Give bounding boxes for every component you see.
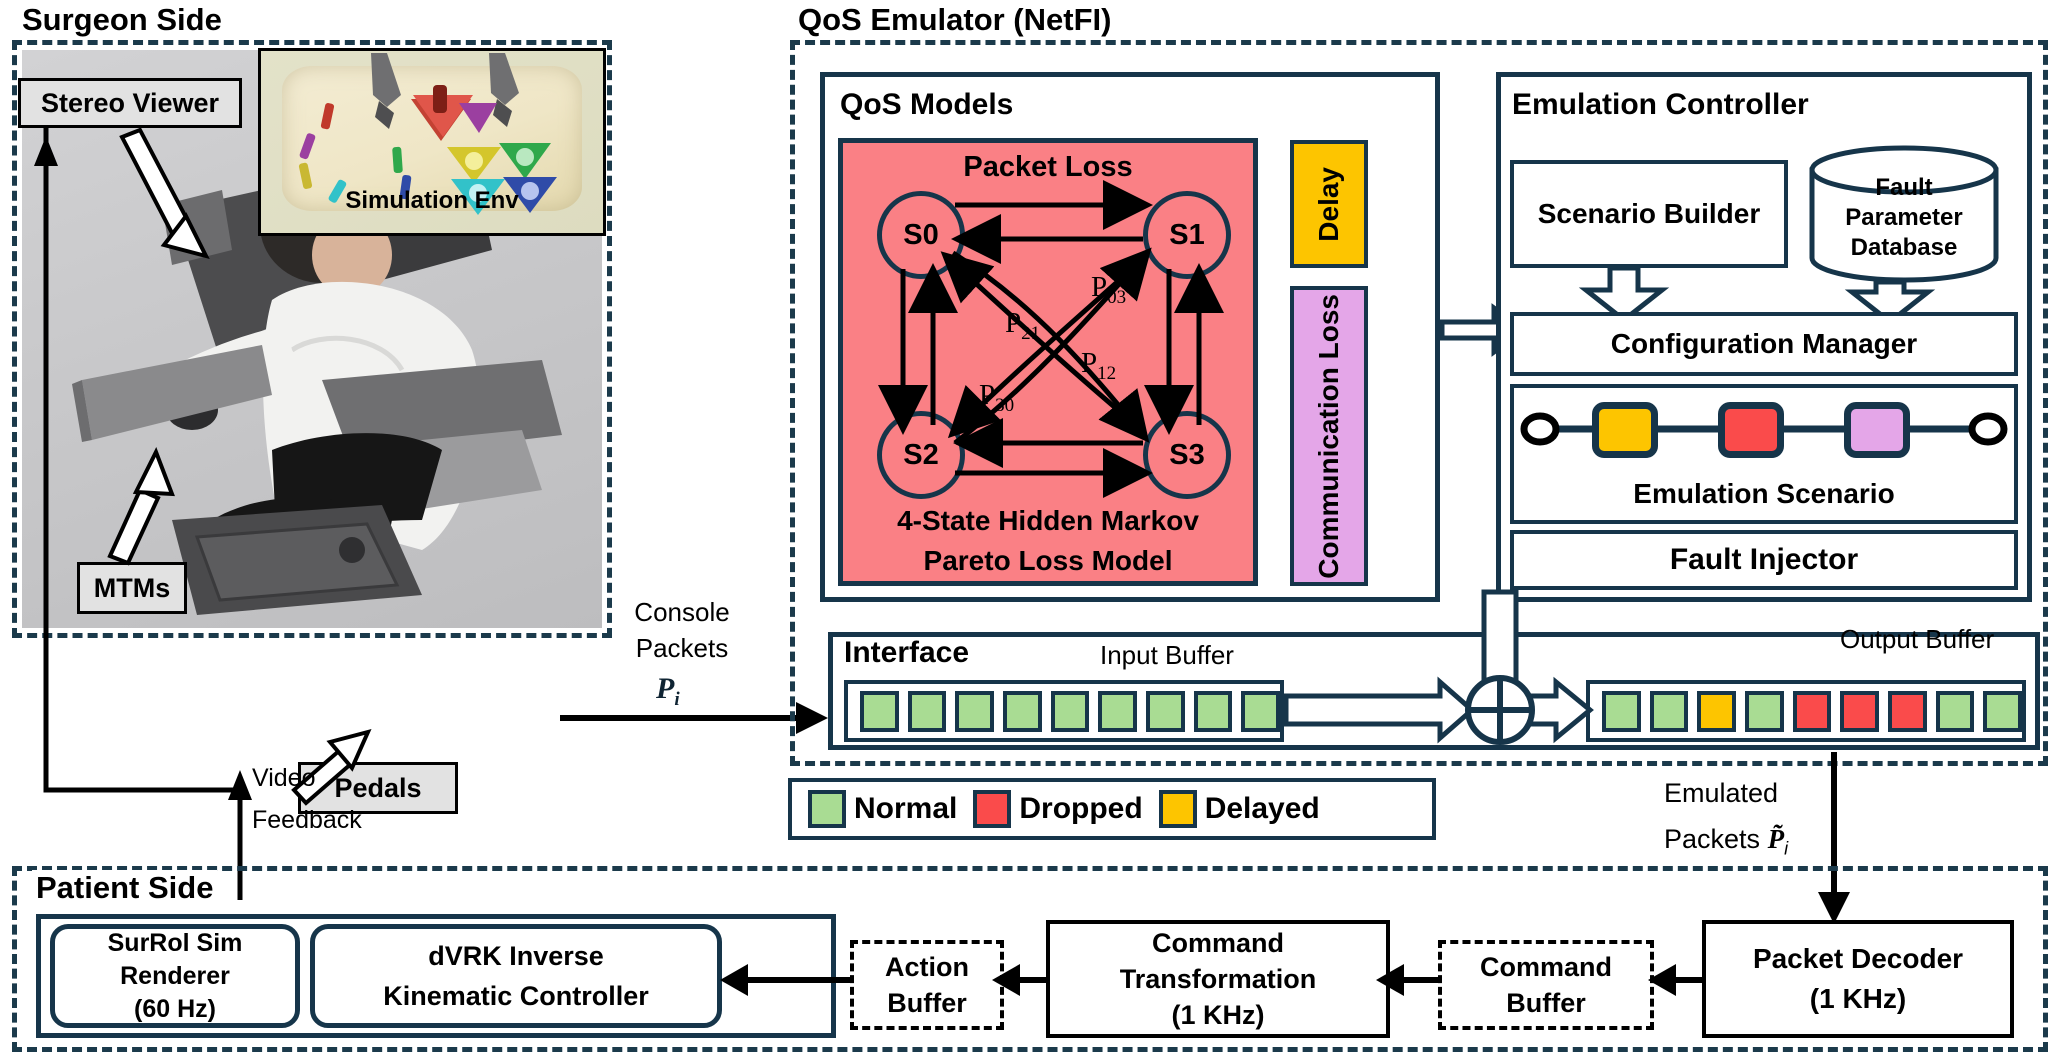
qos-models-title: QoS Models: [840, 88, 1013, 122]
legend-item-dropped: Dropped: [973, 790, 1142, 828]
fault-db-line2: Parameter: [1845, 203, 1962, 233]
cmd-transform-line1: Command: [1152, 925, 1284, 961]
console-packets-sub: i: [674, 689, 679, 710]
dvrk-line1: dVRK Inverse: [428, 936, 604, 976]
feedback-label: Feedback: [252, 806, 362, 835]
legend-item-delayed: Delayed: [1159, 790, 1320, 828]
input-buffer-packet: [1098, 691, 1137, 732]
emulation-controller-title: Emulation Controller: [1512, 88, 1809, 122]
markov-label-p12: P12: [1081, 347, 1116, 385]
output-buffer-label: Output Buffer: [1840, 624, 1994, 655]
markov-state-s2: S2: [877, 411, 965, 499]
action-buffer-line2: Buffer: [887, 985, 967, 1021]
input-buffer-packet: [860, 691, 899, 732]
communication-loss-label: Communication Loss: [1313, 294, 1345, 579]
legend-label-dropped: Dropped: [1019, 792, 1142, 826]
scenario-chip-delayed[interactable]: [1592, 402, 1658, 458]
dvrk-line2: Kinematic Controller: [383, 976, 649, 1016]
input-buffer-label: Input Buffer: [1100, 640, 1234, 671]
fault-parameter-database: Fault Parameter Database: [1808, 148, 2000, 280]
legend-item-normal: Normal: [808, 790, 957, 828]
scenario-chip-dropped[interactable]: [1718, 402, 1784, 458]
simulation-env-inset: Simulation Env: [258, 48, 606, 236]
surrol-line1: SurRol Sim: [108, 927, 243, 960]
action-buffer-box: Action Buffer: [850, 940, 1004, 1030]
command-transformation-box: Command Transformation (1 KHz): [1046, 920, 1390, 1038]
delay-label: Delay: [1313, 167, 1345, 242]
action-buffer-line1: Action: [885, 949, 969, 985]
output-buffer-packet: [1888, 691, 1927, 732]
simulation-env-label: Simulation Env: [261, 187, 603, 215]
console-packets-label: Console Packets: [600, 586, 764, 674]
packet-legend: NormalDroppedDelayed: [788, 778, 1436, 840]
input-buffer-packet: [955, 691, 994, 732]
packet-decoder-line1: Packet Decoder: [1753, 939, 1963, 979]
output-buffer-packet: [1745, 691, 1784, 732]
emulated-packets-line2: Packets P̃i: [1664, 824, 1788, 859]
input-buffer-packet: [908, 691, 947, 732]
emulated-packets-symbol: P̃: [1768, 824, 1785, 854]
cmd-transform-line3: (1 KHz): [1172, 997, 1265, 1033]
console-packets-symbol: Pi: [656, 672, 680, 711]
configuration-manager-box: Configuration Manager: [1510, 312, 2018, 376]
markov-caption-line1: 4-State Hidden Markov: [843, 505, 1253, 537]
input-buffer-packet: [1146, 691, 1185, 732]
markov-label-p21: P21: [1005, 307, 1040, 345]
markov-loss-model: Packet Loss S0 S1 S2 S3: [838, 138, 1258, 586]
fault-injector-box: Fault Injector: [1510, 530, 2018, 590]
cmd-transform-line2: Transformation: [1120, 961, 1317, 997]
output-buffer-packet: [1697, 691, 1736, 732]
fault-db-line3: Database: [1851, 233, 1958, 263]
surrol-line3: (60 Hz): [134, 993, 216, 1026]
callout-mtms: MTMs: [77, 562, 187, 614]
emulation-scenario-box: Emulation Scenario: [1510, 384, 2018, 524]
emulated-packets-line1: Emulated: [1664, 778, 1778, 809]
packet-decoder-line2: (1 KHz): [1810, 979, 1906, 1019]
input-buffer-packet: [1194, 691, 1233, 732]
legend-swatch-normal: [808, 790, 846, 828]
surgeon-side-title: Surgeon Side: [22, 2, 222, 38]
input-buffer-packet: [1051, 691, 1090, 732]
dvrk-controller-box: dVRK Inverse Kinematic Controller: [310, 924, 722, 1028]
packet-decoder-box: Packet Decoder (1 KHz): [1702, 920, 2014, 1038]
markov-caption-line2: Pareto Loss Model: [843, 545, 1253, 577]
markov-label-p30: P30: [979, 379, 1014, 417]
output-buffer-packet: [1650, 691, 1689, 732]
surrol-line2: Renderer: [120, 960, 230, 993]
communication-loss-block: Communication Loss: [1290, 286, 1368, 586]
output-buffer-packet: [1793, 691, 1832, 732]
fault-db-line1: Fault: [1875, 173, 1932, 203]
input-buffer: [844, 680, 1284, 742]
legend-label-normal: Normal: [854, 792, 957, 826]
input-buffer-packet: [1003, 691, 1042, 732]
console-packets-line1: Console: [634, 594, 729, 630]
command-buffer-line1: Command: [1480, 949, 1612, 985]
console-packets-line2: Packets: [636, 630, 729, 666]
output-buffer-packet: [1840, 691, 1879, 732]
output-buffer-packet: [1983, 691, 2022, 732]
video-label: Video: [252, 764, 316, 793]
legend-swatch-dropped: [973, 790, 1011, 828]
output-buffer-packet: [1602, 691, 1641, 732]
output-buffer: [1586, 680, 2026, 742]
surrol-sim-renderer-box: SurRol Sim Renderer (60 Hz): [50, 924, 300, 1028]
legend-label-delayed: Delayed: [1205, 792, 1320, 826]
scenario-chip-comm-loss[interactable]: [1844, 402, 1910, 458]
qos-emulator-title: QoS Emulator (NetFI): [798, 2, 1111, 38]
markov-state-s3: S3: [1143, 411, 1231, 499]
scenario-builder-box: Scenario Builder: [1510, 160, 1788, 268]
markov-state-s0: S0: [877, 191, 965, 279]
console-packets-P: P: [656, 672, 674, 705]
command-buffer-line2: Buffer: [1506, 985, 1586, 1021]
input-buffer-packet: [1241, 691, 1280, 732]
legend-swatch-delayed: [1159, 790, 1197, 828]
packet-loss-title: Packet Loss: [843, 151, 1253, 184]
markov-state-s1: S1: [1143, 191, 1231, 279]
patient-side-title: Patient Side: [32, 870, 217, 906]
command-buffer-box: Command Buffer: [1438, 940, 1654, 1030]
delay-block: Delay: [1290, 140, 1368, 268]
callout-stereo-viewer: Stereo Viewer: [18, 78, 242, 128]
output-buffer-packet: [1936, 691, 1975, 732]
interface-title: Interface: [844, 636, 969, 670]
markov-label-p03: P03: [1091, 271, 1126, 309]
emulation-scenario-label: Emulation Scenario: [1514, 478, 2014, 510]
